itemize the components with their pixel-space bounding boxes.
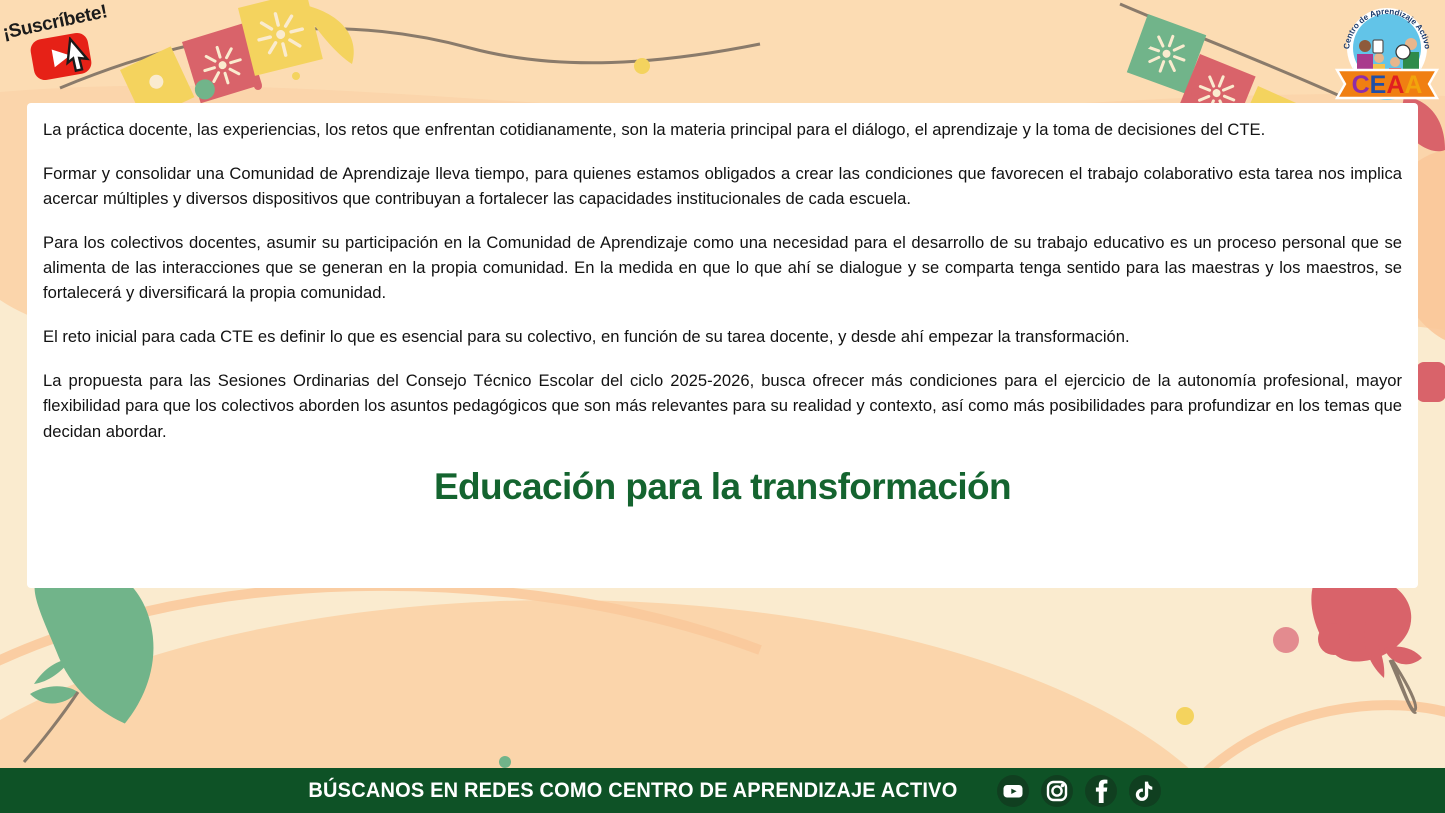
paragraph-2: Formar y consolidar una Comunidad de Apr… [43,161,1402,212]
ceaa-logo: Centro de Aprendizaje Activo CEAA [1333,4,1441,104]
footer-bar: BÚSCANOS EN REDES COMO CENTRO DE APRENDI… [0,768,1445,813]
confetti-dot-5 [1191,88,1199,96]
confetti-dot-3 [1144,42,1151,49]
confetti-dot-yellow-bottom [1176,707,1194,725]
instagram-icon[interactable] [1041,775,1073,807]
paragraph-3: Para los colectivos docentes, asumir su … [43,230,1402,306]
tiktok-icon[interactable] [1129,775,1161,807]
confetti-dot-red-bottom [1273,627,1299,653]
confetti-dot-yellow-top [634,58,650,74]
paragraph-5: La propuesta para las Sesiones Ordinaria… [43,368,1402,444]
logo-acronym: CEAA [1352,71,1423,99]
subscribe-promo[interactable]: ¡Suscríbete! [0,4,190,94]
confetti-dot-2 [254,82,262,90]
red-decor-right-mid [1416,362,1445,402]
confetti-dot-1 [292,72,300,80]
confetti-dot-4 [1171,75,1179,83]
footer-label: BÚSCANOS EN REDES COMO CENTRO DE APRENDI… [308,778,957,803]
facebook-icon[interactable] [1085,775,1117,807]
content-card: La práctica docente, las experiencias, l… [27,103,1418,588]
headline: Educación para la transformación [41,466,1404,508]
paragraph-1: La práctica docente, las experiencias, l… [43,117,1402,142]
paragraph-4: El reto inicial para cada CTE es definir… [43,324,1402,349]
social-links [997,775,1161,807]
youtube-icon[interactable] [997,775,1029,807]
pointer-hand-cursor-icon [60,36,98,83]
confetti-dot-green-bottom [499,756,511,768]
